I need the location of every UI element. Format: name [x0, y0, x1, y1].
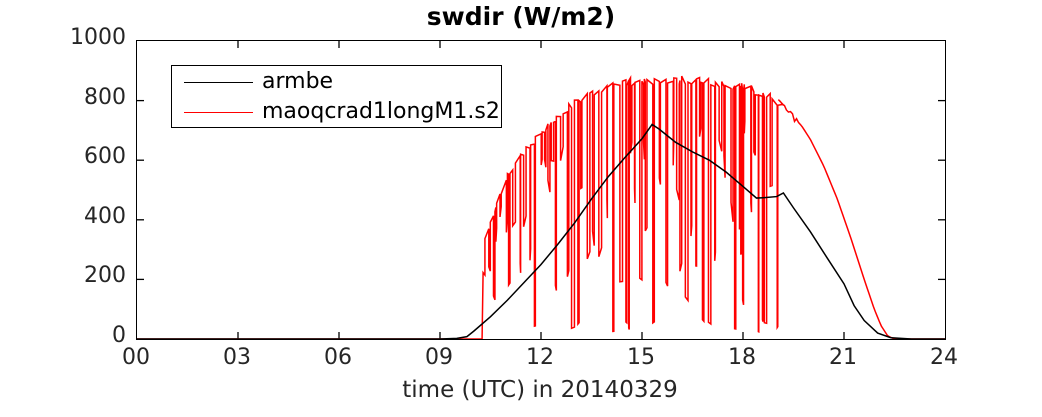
x-tick-label: 21: [813, 345, 873, 370]
y-tick-label: 800: [0, 85, 126, 110]
legend-line-swatch-armbe: [184, 82, 253, 83]
chart-legend: armbe maoqcrad1longM1.s2: [171, 65, 502, 128]
chart-figure: swdir (W/m2) 02004006008001000 000306091…: [0, 0, 1042, 417]
x-tick-label: 03: [207, 345, 267, 370]
legend-item-maoqcrad1longm1-s2: maoqcrad1longM1.s2: [172, 97, 501, 128]
x-tick-label: 12: [510, 345, 570, 370]
legend-label-maoqcrad1longm1-s2: maoqcrad1longM1.s2: [262, 99, 500, 124]
legend-label-armbe: armbe: [262, 69, 333, 94]
x-tick-label: 15: [611, 345, 671, 370]
y-tick-label: 400: [0, 204, 126, 229]
y-tick-label: 600: [0, 144, 126, 169]
legend-item-armbe: armbe: [172, 67, 501, 98]
y-tick-label: 200: [0, 263, 126, 288]
x-tick-label: 00: [106, 345, 166, 370]
x-tick-label: 24: [914, 345, 974, 370]
legend-line-swatch-maoqcrad1longm1-s2: [184, 112, 253, 113]
x-tick-label: 06: [308, 345, 368, 370]
y-tick-label: 1000: [0, 25, 126, 50]
x-tick-label: 18: [712, 345, 772, 370]
x-axis-label: time (UTC) in 20140329: [136, 377, 944, 403]
page-title: swdir (W/m2): [0, 2, 1042, 31]
x-tick-label: 09: [409, 345, 469, 370]
